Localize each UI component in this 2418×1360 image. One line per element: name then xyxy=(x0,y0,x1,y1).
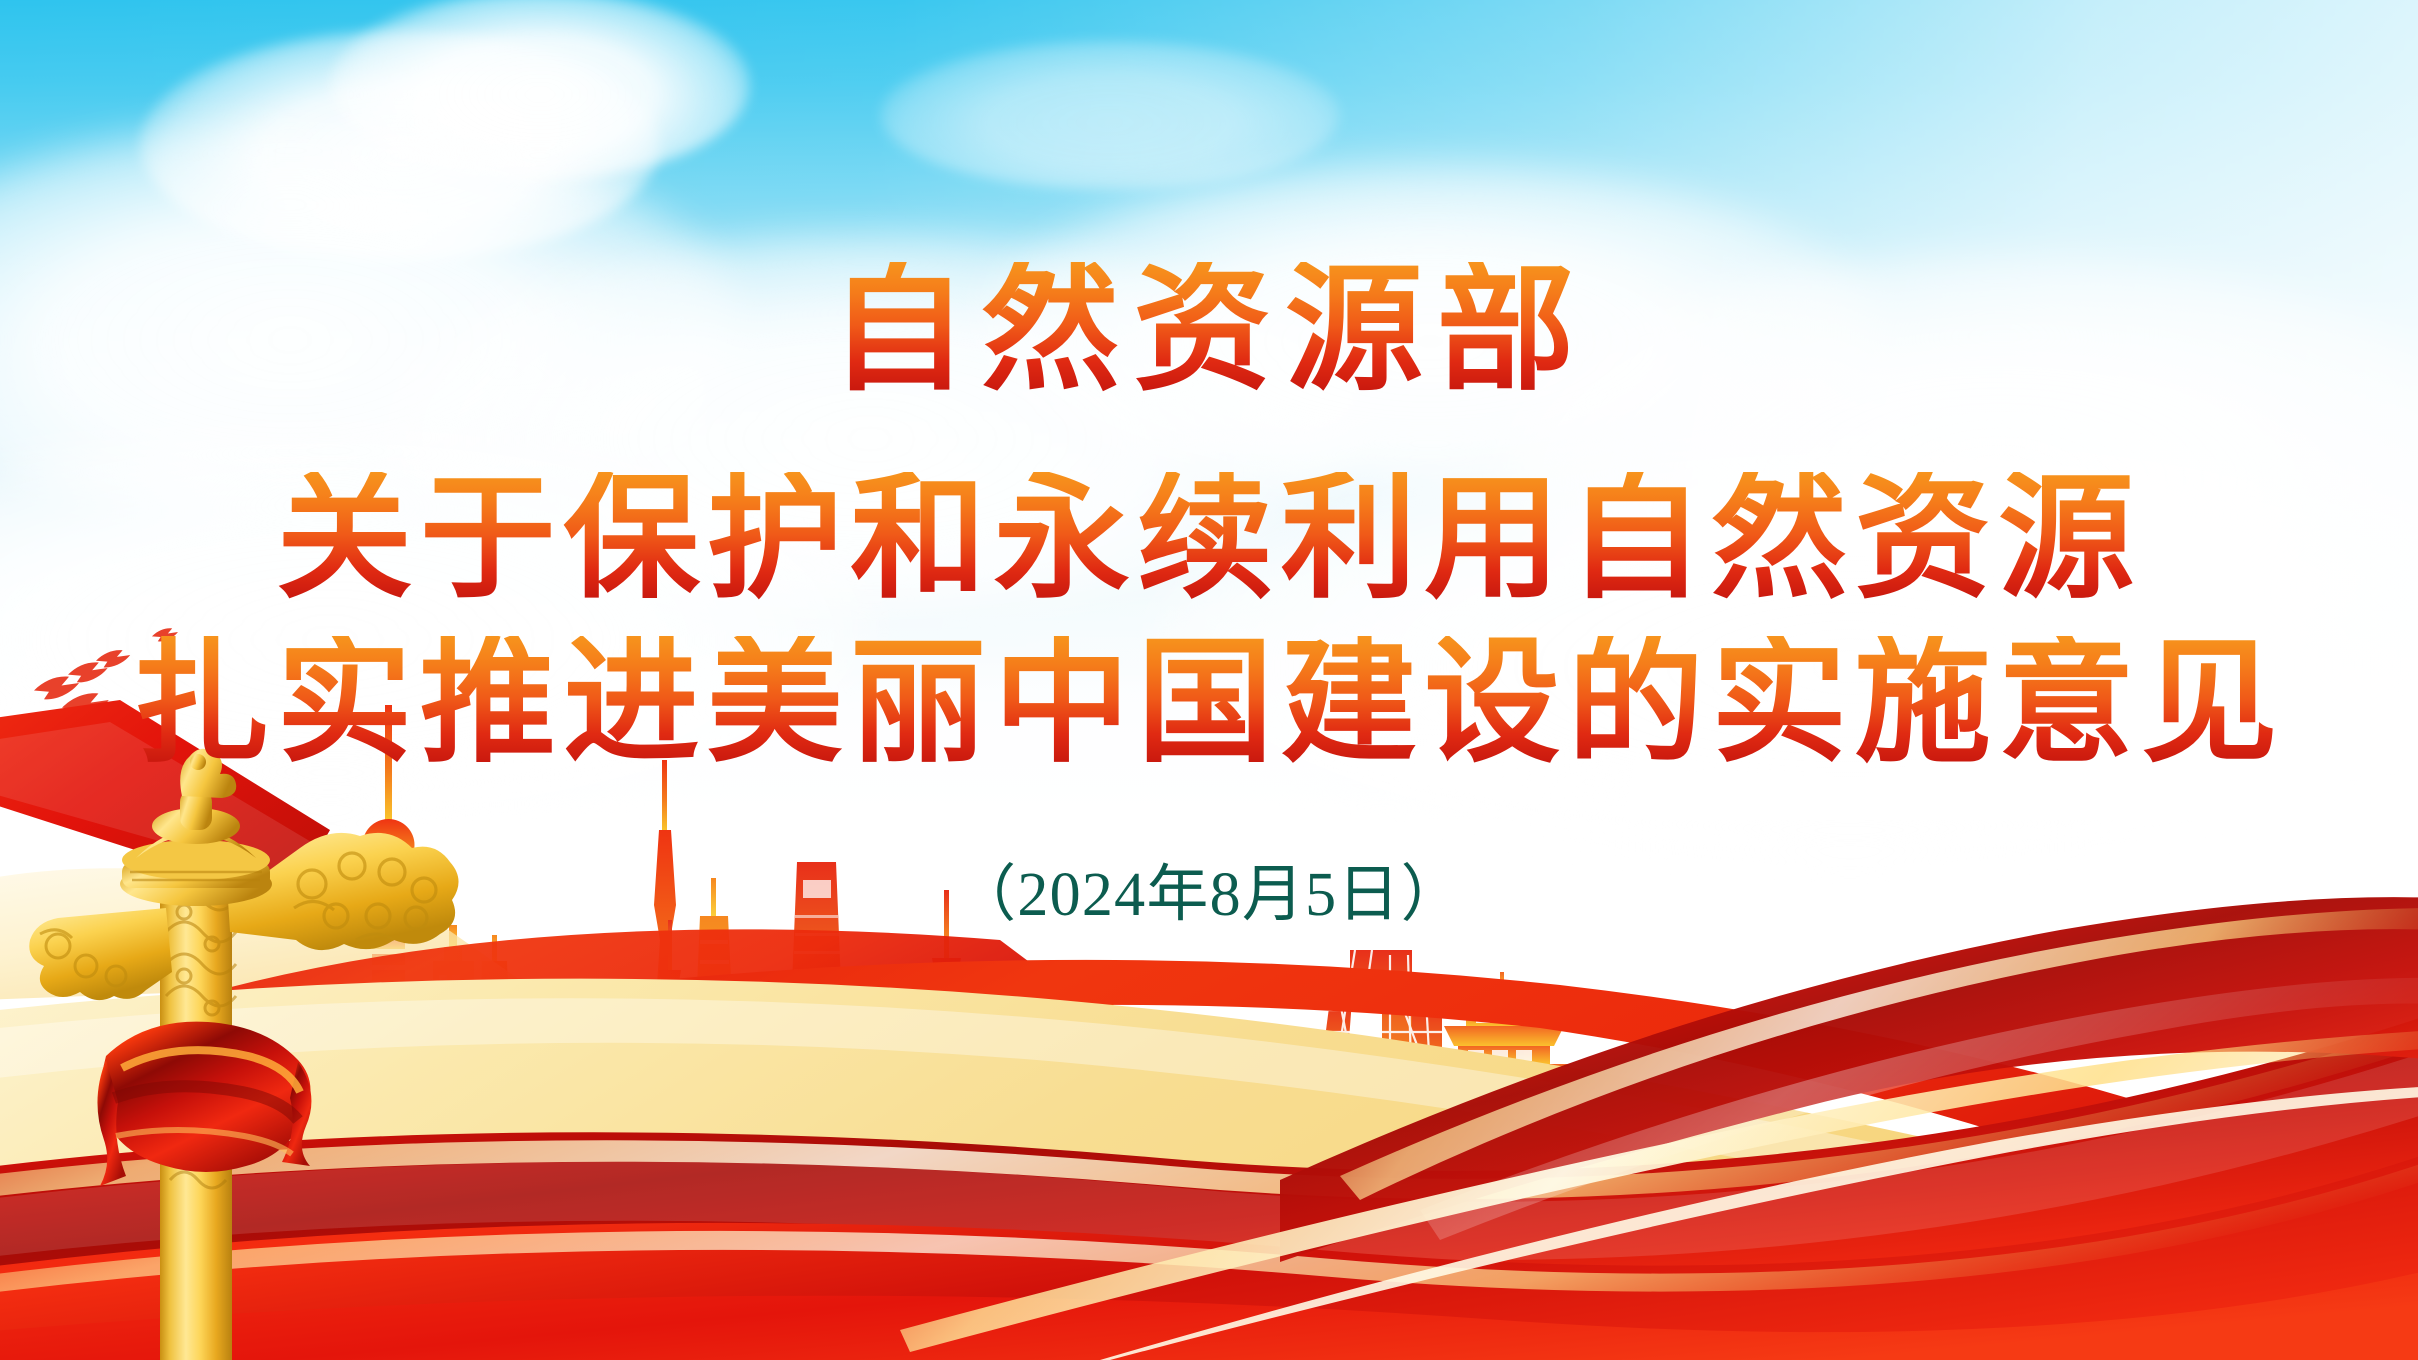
document-title-line-2: 扎实推进美丽中国建设的实施意见 xyxy=(0,636,2418,772)
birds-nest-stadium-icon xyxy=(1175,1046,1335,1118)
ribbon-arc-right xyxy=(240,960,2418,1300)
pillar-shaft xyxy=(160,880,232,1360)
issuer-title: 自然资源部 xyxy=(0,262,2418,400)
yellow-crane-tower-icon xyxy=(1438,972,1570,1106)
ribbon-mid-slash xyxy=(150,929,1060,1060)
jinmao-tower-icon xyxy=(477,935,512,1105)
ribbon-right-crest xyxy=(1280,897,2418,1262)
pillar-red-sash xyxy=(97,1022,311,1186)
tower-block-icon xyxy=(542,985,594,1105)
document-title-line-1: 关于保护和永续利用自然资源 xyxy=(0,472,2418,608)
document-date: （2024年8月5日） xyxy=(0,843,2418,933)
gold-band xyxy=(0,979,2418,1360)
office-block-icon xyxy=(433,925,474,1105)
poster-canvas: 自然资源部 关于保护和永续利用自然资源 扎实推进美丽中国建设的实施意见 （202… xyxy=(0,0,2418,1360)
ribbon-lower-red xyxy=(0,1150,2418,1360)
temple-of-heaven-icon xyxy=(1042,962,1144,1106)
tv-tower-small-icon xyxy=(659,920,681,1105)
cctv-headquarters-icon xyxy=(1316,950,1442,1106)
ribbon-deep-red xyxy=(0,1268,2418,1360)
gold-filament xyxy=(900,1030,2418,1360)
highrise-strip-icon xyxy=(853,1008,898,1105)
temple-of-heaven-small-icon xyxy=(1000,1028,1054,1106)
ribbon-main-red xyxy=(0,1012,2418,1360)
